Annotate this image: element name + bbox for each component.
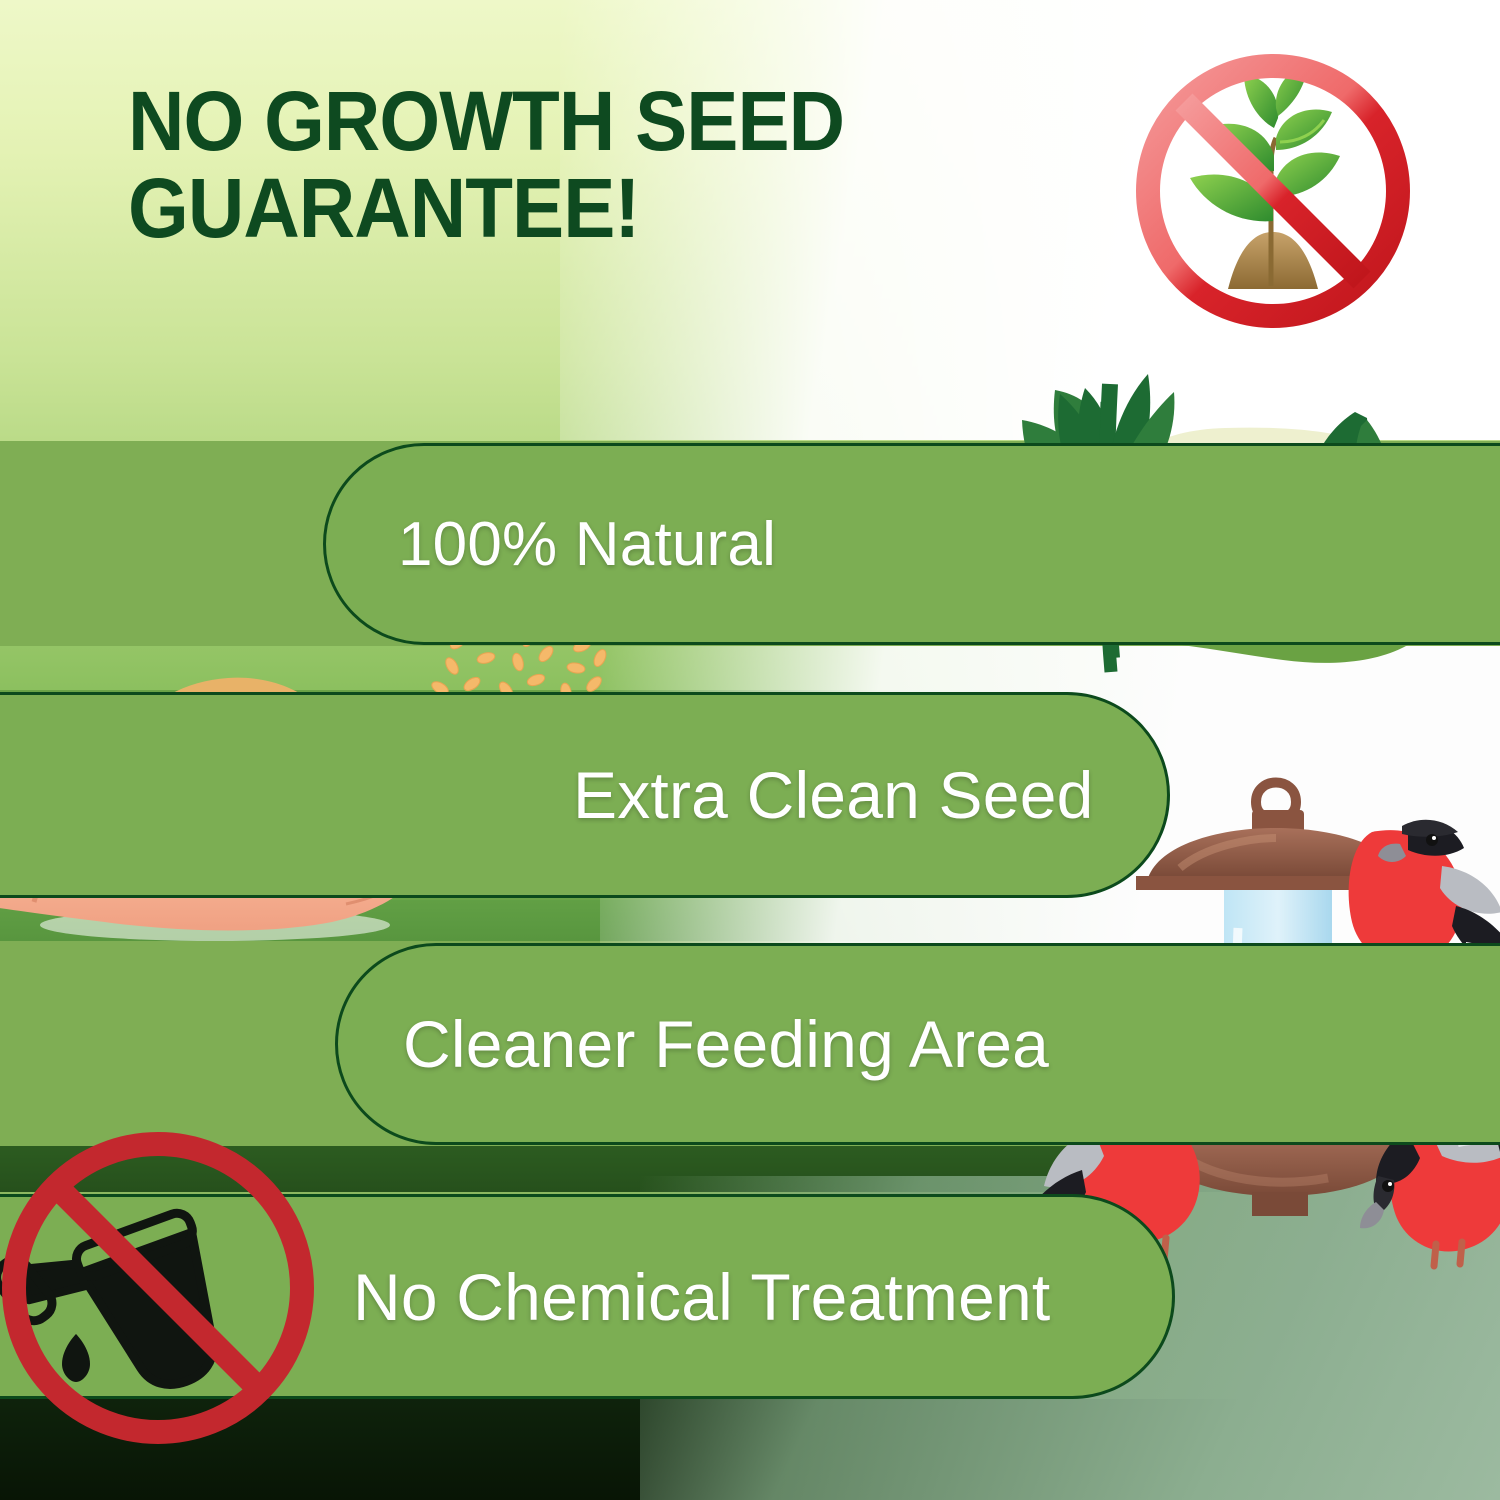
page-title: NO GROWTH SEED GUARANTEE!	[128, 78, 965, 253]
feature-pill-3-label: Cleaner Feeding Area	[403, 1006, 1049, 1082]
promo-graphic: NO GROWTH SEED GUARANTEE!	[0, 0, 1500, 1500]
headline-line-1: NO GROWTH SEED	[128, 78, 965, 165]
no-plant-growth-icon	[1128, 46, 1418, 336]
feature-pill-3[interactable]: Cleaner Feeding Area	[335, 943, 1500, 1145]
feature-pill-1-label: 100% Natural	[398, 509, 776, 580]
no-chemical-treatment-icon	[0, 1128, 318, 1448]
headline-line-2: GUARANTEE!	[128, 165, 965, 252]
feature-pill-4-label: No Chemical Treatment	[353, 1259, 1050, 1335]
feature-pill-2-label: Extra Clean Seed	[573, 757, 1094, 833]
feature-pill-2[interactable]: Extra Clean Seed	[0, 692, 1170, 898]
feature-pill-1[interactable]: 100% Natural	[323, 443, 1500, 645]
